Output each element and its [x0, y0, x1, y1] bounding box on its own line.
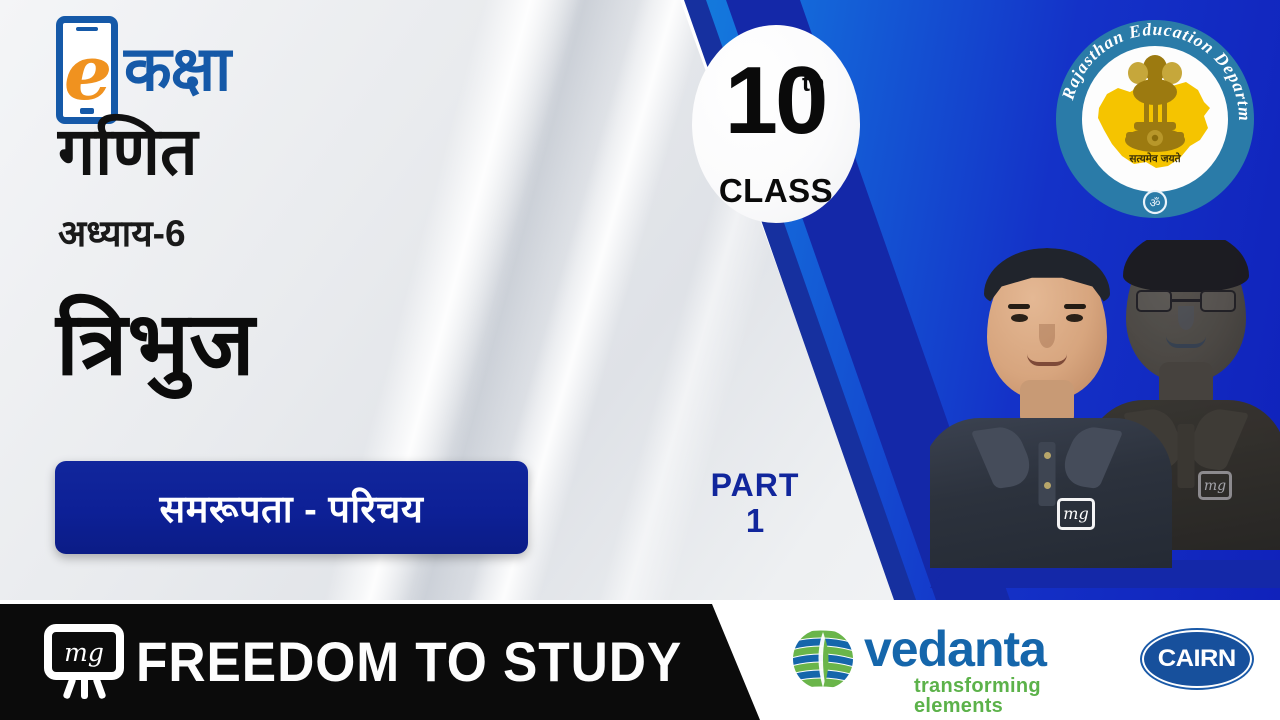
- shirt-mg-logo-back-text: mg: [1204, 479, 1226, 493]
- logo-wordmark: कक्षा: [124, 39, 230, 101]
- sponsor-cairn: CAIRN: [1140, 628, 1254, 690]
- topic-badge-label: समरूपता - परिचय: [160, 482, 424, 534]
- shirt-mg-logo-front-text: mg: [1063, 506, 1088, 522]
- logo-letter-e: e: [64, 35, 110, 111]
- sponsor-vedanta: vedanta transforming elements: [792, 618, 1122, 702]
- topic-badge: समरूपता - परिचय: [55, 461, 528, 554]
- instructor-front: mg: [930, 246, 1172, 568]
- mg-logo-text: mg: [64, 640, 104, 665]
- svg-text:ॐ: ॐ: [1150, 196, 1161, 210]
- part-number: 1: [660, 503, 850, 540]
- instructor-front-hair: [984, 248, 1110, 310]
- class-word-label: CLASS: [700, 174, 852, 207]
- instructor-back-mouth: [1166, 336, 1206, 348]
- instructor-front-nose: [1039, 324, 1055, 348]
- seal-motto: सत्यमेव जयते: [1128, 152, 1181, 165]
- glasses-bridge: [1172, 299, 1200, 302]
- department-seal-icon: Rajasthan Education Department सत्य: [1052, 16, 1258, 222]
- instructor-back-nose: [1178, 306, 1194, 330]
- footer-tagline: FREEDOM TO STUDY: [136, 627, 682, 695]
- shirt-mg-logo-front: mg: [1057, 498, 1095, 530]
- collar-right: [1055, 425, 1123, 489]
- collar-left: [971, 425, 1039, 489]
- glasses-lens-right: [1200, 290, 1236, 312]
- shirt-button-bottom: [1044, 482, 1051, 489]
- cairn-ellipse: CAIRN: [1144, 632, 1250, 686]
- eye-left: [1011, 314, 1028, 322]
- vedanta-sphere-icon: [792, 628, 854, 690]
- thumbnail-canvas: e कक्षा गणित अध्याय-6 त्रिभुज समरूपता - …: [0, 0, 1280, 720]
- cairn-wordmark: CAIRN: [1158, 645, 1236, 673]
- instructor-front-head: [987, 250, 1107, 400]
- instructor-photo-group: mg mg: [930, 240, 1280, 568]
- subject-title: गणित: [58, 118, 198, 184]
- brow-left: [1008, 304, 1030, 309]
- smartphone-icon: e: [56, 16, 118, 124]
- class-number: 10: [700, 55, 850, 146]
- vedanta-wordmark: vedanta: [864, 624, 1046, 674]
- eye-right: [1066, 314, 1083, 322]
- chapter-number: अध्याय-6: [58, 215, 186, 252]
- part-label: PART: [660, 468, 850, 503]
- chapter-title: त्रिभुज: [56, 300, 255, 388]
- phone-speaker: [76, 27, 98, 31]
- rajasthan-education-department-logo: Rajasthan Education Department सत्य: [1052, 16, 1258, 222]
- class-ordinal-suffix: th: [802, 72, 825, 96]
- part-indicator: PART 1: [660, 468, 850, 540]
- mg-blackboard-logo: mg: [36, 622, 134, 700]
- shirt-mg-logo-back: mg: [1198, 471, 1232, 500]
- instructor-front-shirt: [930, 418, 1172, 568]
- ekaksha-logo: e कक्षा: [56, 16, 230, 124]
- brow-right: [1064, 304, 1086, 309]
- instructor-front-mouth: [1027, 354, 1067, 366]
- mg-board-icon: mg: [44, 624, 124, 680]
- shirt-button-top: [1044, 452, 1051, 459]
- shirt-placket: [1178, 424, 1195, 488]
- vedanta-tagline: transforming elements: [914, 676, 1122, 716]
- shirt-placket: [1039, 442, 1056, 506]
- mg-easel-leg-center: [81, 677, 88, 699]
